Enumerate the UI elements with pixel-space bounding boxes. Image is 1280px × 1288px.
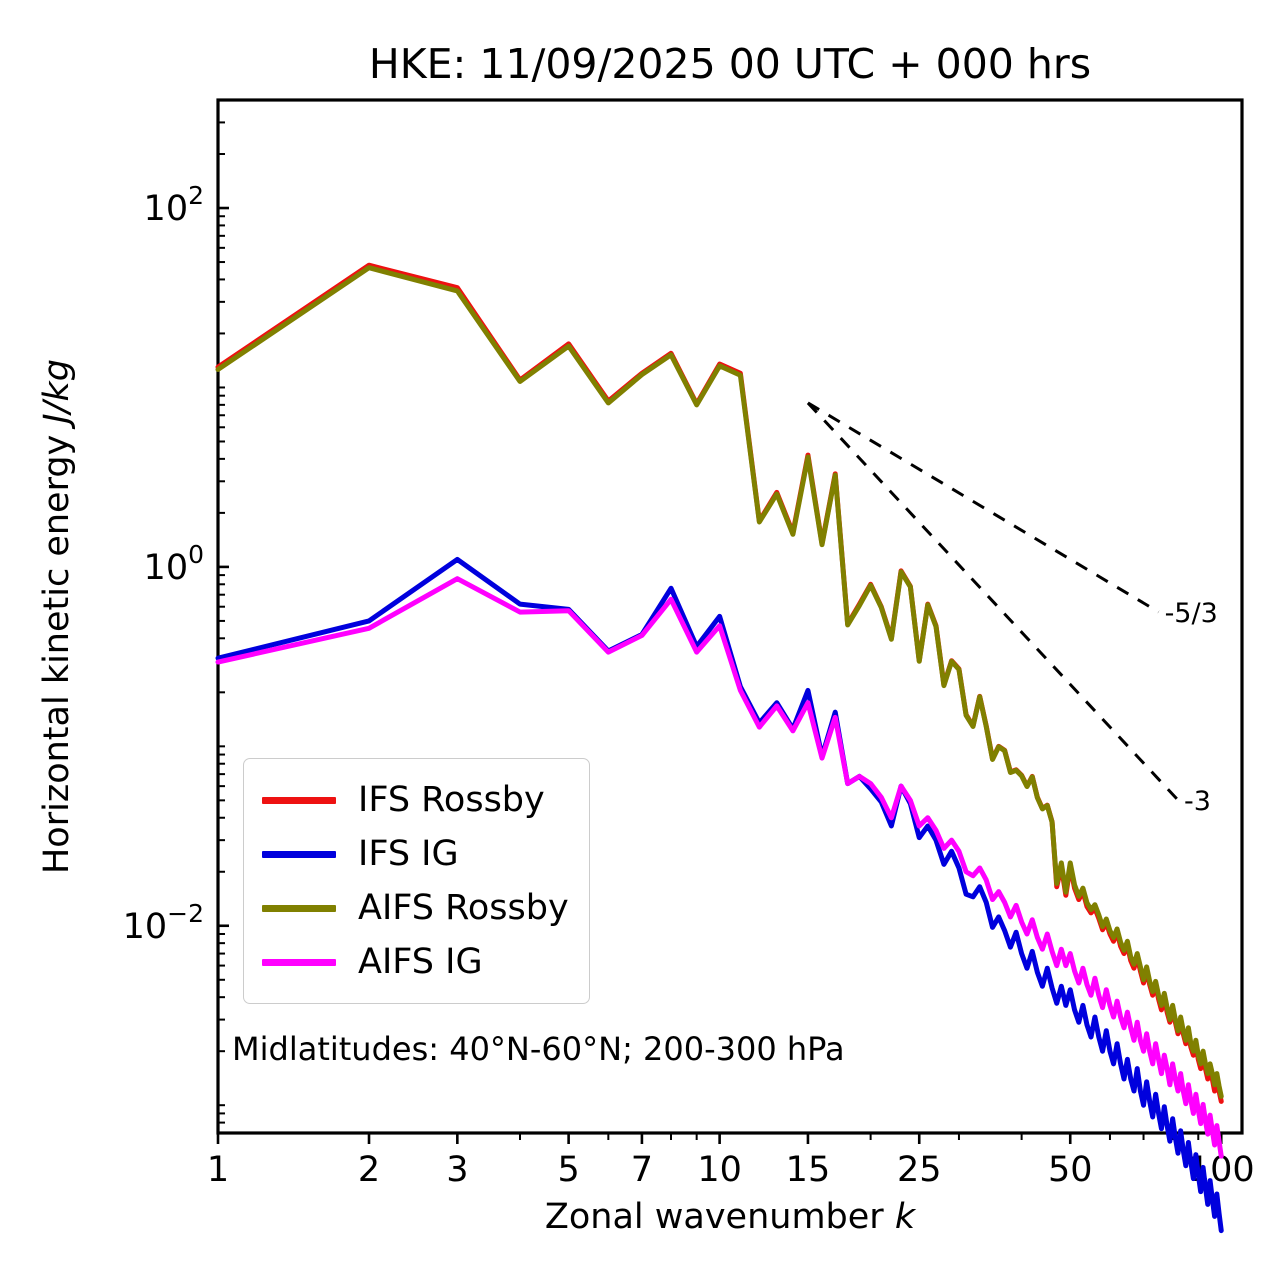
chart-legend: IFS RossbyIFS IGAIFS RossbyAIFS IG xyxy=(243,758,590,1004)
reference-label-53: -5/3 xyxy=(1165,598,1218,629)
legend-swatch-icon xyxy=(262,797,336,804)
y-tick-label: 10−2 xyxy=(123,899,204,947)
chart-title: HKE: 11/09/2025 00 UTC + 000 hrs xyxy=(369,40,1091,88)
chart-canvas: HKE: 11/09/2025 00 UTC + 000 hrs 1235710… xyxy=(0,0,1280,1288)
chart-figure: HKE: 11/09/2025 00 UTC + 000 hrs 1235710… xyxy=(0,0,1280,1288)
x-tick-label: 50 xyxy=(1048,1150,1093,1190)
legend-item-ifs-ig[interactable]: IFS IG xyxy=(262,827,569,881)
reference-label-3: -3 xyxy=(1184,786,1211,817)
legend-item-ifs-rossby[interactable]: IFS Rossby xyxy=(262,773,569,827)
legend-item-label: AIFS IG xyxy=(358,945,483,980)
legend-swatch-icon xyxy=(262,959,336,966)
y-axis-label: Horizontal kinetic energy J/kg xyxy=(37,359,77,874)
legend-swatch-icon xyxy=(262,851,336,858)
reference-line-53 xyxy=(808,403,1159,612)
region-annotation: Midlatitudes: 40°N-60°N; 200-300 hPa xyxy=(232,1030,845,1068)
legend-item-label: IFS IG xyxy=(358,837,459,872)
x-tick-label: 3 xyxy=(446,1150,468,1190)
y-tick-label: 102 xyxy=(144,181,204,229)
x-tick-label: 7 xyxy=(631,1150,653,1190)
legend-item-label: IFS Rossby xyxy=(358,783,545,818)
legend-swatch-icon xyxy=(262,905,336,912)
x-tick-label: 5 xyxy=(557,1150,579,1190)
x-tick-label: 1 xyxy=(207,1150,229,1190)
x-tick-label: 25 xyxy=(897,1150,942,1190)
legend-item-aifs-rossby[interactable]: AIFS Rossby xyxy=(262,881,569,935)
x-axis-label: Zonal wavenumber k xyxy=(545,1197,917,1237)
legend-item-label: AIFS Rossby xyxy=(358,891,569,926)
legend-item-aifs-ig[interactable]: AIFS IG xyxy=(262,935,569,989)
x-tick-label: 10 xyxy=(697,1150,742,1190)
x-tick-label: 2 xyxy=(358,1150,380,1190)
x-tick-label: 15 xyxy=(786,1150,831,1190)
y-tick-label: 100 xyxy=(144,540,204,588)
